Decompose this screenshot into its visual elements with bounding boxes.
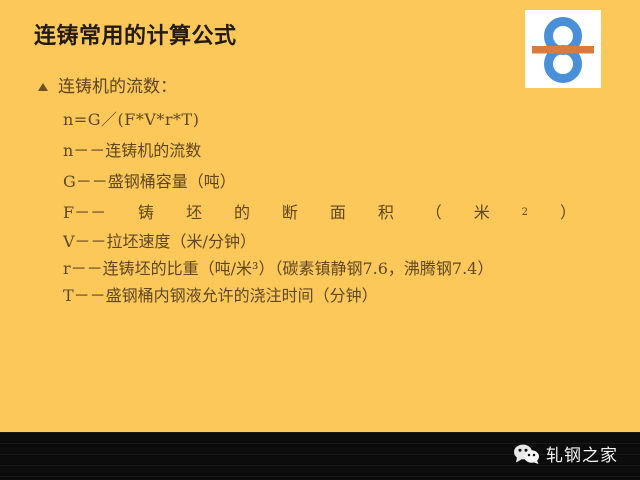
formula-F-seg-0: F－－ — [63, 197, 106, 228]
formula-F-seg-6: 积 — [378, 197, 394, 228]
bullet-item: 连铸机的流数： — [0, 74, 640, 100]
formula-F-superscript: 2 — [522, 197, 528, 228]
formula-definition-F: F－－ 铸 坯 的 断 面 积 （ 米 2 ） — [63, 197, 576, 228]
slide-body: 连铸机的流数： n=G／(F*V*r*T) n－－连铸机的流数 G－－盛钢桶容量… — [0, 74, 640, 309]
formula-F-seg-7: （ — [426, 197, 442, 228]
formula-definition-V: V－－拉坯速度（米/分钟） — [63, 228, 618, 255]
formula-equation: n=G／(F*V*r*T) — [63, 104, 618, 135]
bullet-item-label: 连铸机的流数： — [58, 77, 177, 97]
triangle-bullet-icon — [38, 83, 48, 91]
formula-definition-G: G－－盛钢桶容量（吨） — [63, 166, 618, 197]
slide-canvas: 连铸常用的计算公式 连铸机的流数： n=G／(F*V*r*T) n－－连铸机的流… — [0, 0, 640, 480]
formula-F-seg-4: 断 — [282, 197, 298, 228]
footer-band: 轧钢之家 — [0, 432, 640, 480]
formula-F-seg-1: 铸 — [138, 197, 154, 228]
formula-F-seg-2: 坯 — [186, 197, 202, 228]
watermark: 轧钢之家 — [514, 441, 618, 466]
formula-F-seg-5: 面 — [330, 197, 346, 228]
watermark-label: 轧钢之家 — [546, 441, 618, 466]
formula-definition-T: T－－盛钢桶内钢液允许的浇注时间（分钟） — [63, 282, 618, 309]
formula-F-seg-10: ） — [560, 197, 576, 228]
page-title: 连铸常用的计算公式 — [34, 18, 237, 50]
formula-list: n=G／(F*V*r*T) n－－连铸机的流数 G－－盛钢桶容量（吨） F－－ … — [0, 104, 640, 309]
formula-F-seg-3: 的 — [234, 197, 250, 228]
formula-definition-n: n－－连铸机的流数 — [63, 135, 618, 166]
wechat-icon — [514, 444, 540, 464]
formula-definition-r: r－－连铸坯的比重（吨/米³）（碳素镇静钢7.6，沸腾钢7.4） — [63, 255, 618, 282]
formula-F-seg-8: 米 — [474, 197, 490, 228]
